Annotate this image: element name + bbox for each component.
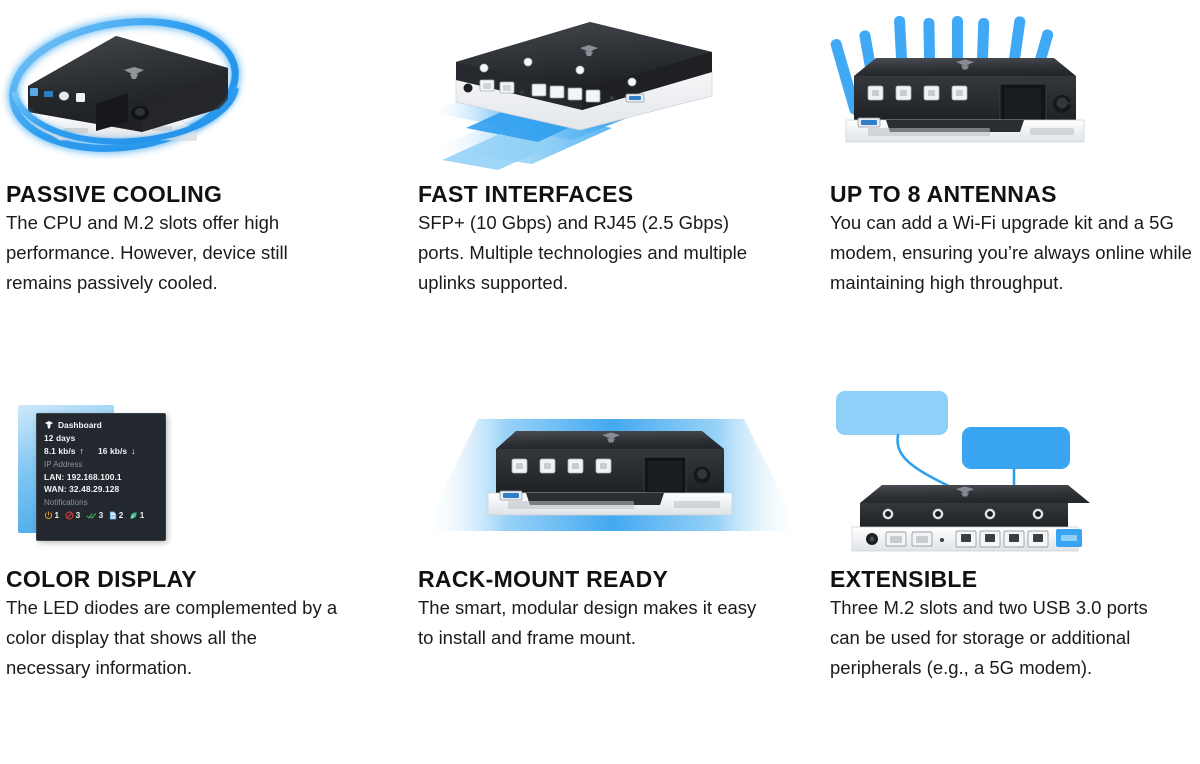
notification-item: 2 <box>109 511 123 523</box>
arrow-up-icon: ↑ <box>80 447 85 456</box>
notification-item: 3 <box>86 511 103 523</box>
display-uptime: 12 days <box>44 434 75 443</box>
notification-count: 3 <box>76 512 81 521</box>
notification-item: 1 <box>44 511 59 523</box>
notifications-row: 1 3 <box>44 511 158 523</box>
throughput-down-value: 16 kb/s <box>98 447 127 456</box>
feature-title: FAST INTERFACES <box>412 180 824 208</box>
router-with-blue-arrows-illustration <box>412 0 824 180</box>
feature-grid: PASSIVE COOLING The CPU and M.2 slots of… <box>0 0 1200 764</box>
brand-logo-icon <box>44 420 54 430</box>
notification-count: 1 <box>55 512 60 521</box>
feature-description: Three M.2 slots and two USB 3.0 ports ca… <box>824 593 1176 683</box>
ip-section-label: IP Address <box>44 461 158 469</box>
feature-card-color-display: Dashboard 12 days 8.1 kb/s ↑ 16 kb/s ↓ I… <box>0 385 412 764</box>
notifications-label: Notifications <box>44 499 158 507</box>
feature-card-rack-mount-ready: RACK-MOUNT READY The smart, modular desi… <box>412 385 824 764</box>
document-icon <box>109 511 117 523</box>
feature-title: PASSIVE COOLING <box>0 180 412 208</box>
power-icon <box>44 511 53 523</box>
router-rack-mount-illustration <box>412 385 824 565</box>
feature-image-router-rack-mount <box>412 385 824 565</box>
feature-image-router-with-blue-ring <box>0 0 412 180</box>
feature-card-extensible: EXTENSIBLE Three M.2 slots and two USB 3… <box>824 385 1200 764</box>
notification-item: 3 <box>65 511 80 523</box>
feature-description: The CPU and M.2 slots offer high perform… <box>0 208 352 298</box>
blocked-icon <box>65 511 74 523</box>
display-uptime-row: 12 days <box>44 434 158 443</box>
feature-description: You can add a Wi-Fi upgrade kit and a 5G… <box>824 208 1200 298</box>
display-header-row: Dashboard <box>44 420 158 430</box>
feature-image-dashboard-display: Dashboard 12 days 8.1 kb/s ↑ 16 kb/s ↓ I… <box>0 385 412 565</box>
notification-count: 3 <box>99 512 104 521</box>
router-with-antennas-illustration <box>824 0 1200 180</box>
router-with-blue-ring-illustration <box>0 0 412 180</box>
dashboard-display-mockup: Dashboard 12 days 8.1 kb/s ↑ 16 kb/s ↓ I… <box>18 397 170 545</box>
notification-item: 1 <box>129 511 144 523</box>
notification-count: 2 <box>119 512 124 521</box>
feature-title: UP TO 8 ANTENNAS <box>824 180 1200 208</box>
display-title: Dashboard <box>58 421 102 430</box>
feature-image-router-with-blue-arrows <box>412 0 824 180</box>
leaf-icon <box>129 511 138 523</box>
double-check-icon <box>86 511 97 523</box>
lan-address: LAN: 192.168.100.1 <box>44 473 158 482</box>
feature-description: The smart, modular design makes it easy … <box>412 593 764 653</box>
feature-description: The LED diodes are complemented by a col… <box>0 593 352 683</box>
router-extensible-modules-illustration <box>824 385 1200 565</box>
feature-card-up-to-8-antennas: UP TO 8 ANTENNAS You can add a Wi-Fi upg… <box>824 0 1200 385</box>
display-screen-card: Dashboard 12 days 8.1 kb/s ↑ 16 kb/s ↓ I… <box>36 413 166 541</box>
feature-card-passive-cooling: PASSIVE COOLING The CPU and M.2 slots of… <box>0 0 412 385</box>
display-throughput-row: 8.1 kb/s ↑ 16 kb/s ↓ <box>44 447 158 456</box>
wan-address: WAN: 32.48.29.128 <box>44 485 158 494</box>
throughput-up-value: 8.1 kb/s <box>44 447 76 456</box>
feature-title: COLOR DISPLAY <box>0 565 412 593</box>
feature-title: EXTENSIBLE <box>824 565 1200 593</box>
feature-card-fast-interfaces: FAST INTERFACES SFP+ (10 Gbps) and RJ45 … <box>412 0 824 385</box>
feature-image-router-with-antennas <box>824 0 1200 180</box>
notification-count: 1 <box>140 512 145 521</box>
feature-image-router-extensible-modules <box>824 385 1200 565</box>
feature-description: SFP+ (10 Gbps) and RJ45 (2.5 Gbps) ports… <box>412 208 764 298</box>
arrow-down-icon: ↓ <box>131 447 136 456</box>
feature-title: RACK-MOUNT READY <box>412 565 824 593</box>
